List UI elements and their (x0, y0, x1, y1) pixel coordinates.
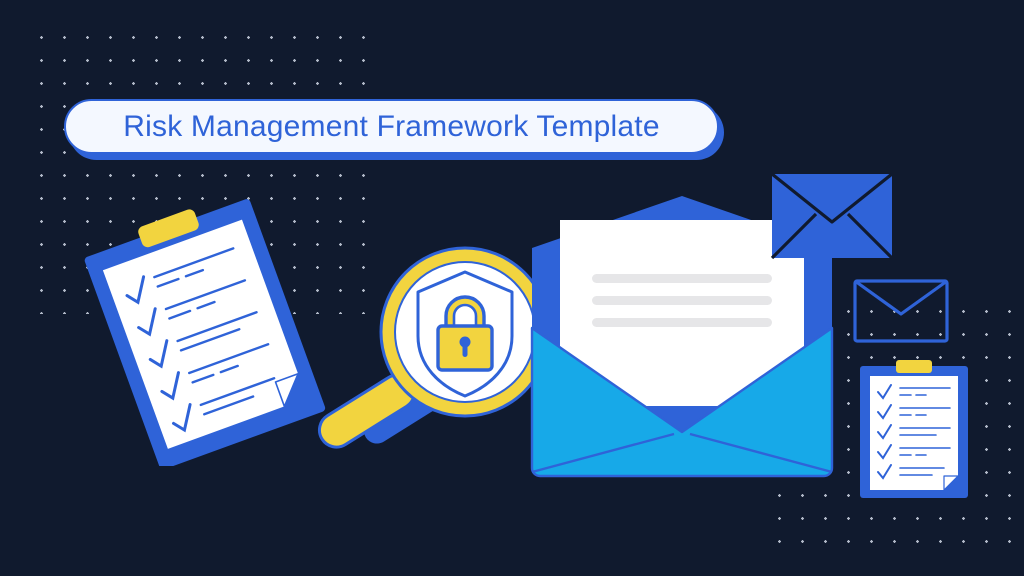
page-title: Risk Management Framework Template (123, 110, 659, 144)
clipboard-clip (896, 360, 932, 373)
page-title-banner: Risk Management Framework Template (64, 99, 719, 154)
illustration-canvas: Risk Management Framework Template (0, 0, 1024, 576)
clipboard-small (858, 358, 970, 500)
clipboard-large (78, 196, 338, 466)
lock-icon (438, 297, 492, 370)
letter-lines (592, 274, 772, 327)
envelope-solid-small (770, 172, 894, 260)
envelope-outline-small (852, 278, 950, 344)
clipboard-page (870, 376, 958, 490)
envelope-fold-lines (855, 281, 947, 314)
